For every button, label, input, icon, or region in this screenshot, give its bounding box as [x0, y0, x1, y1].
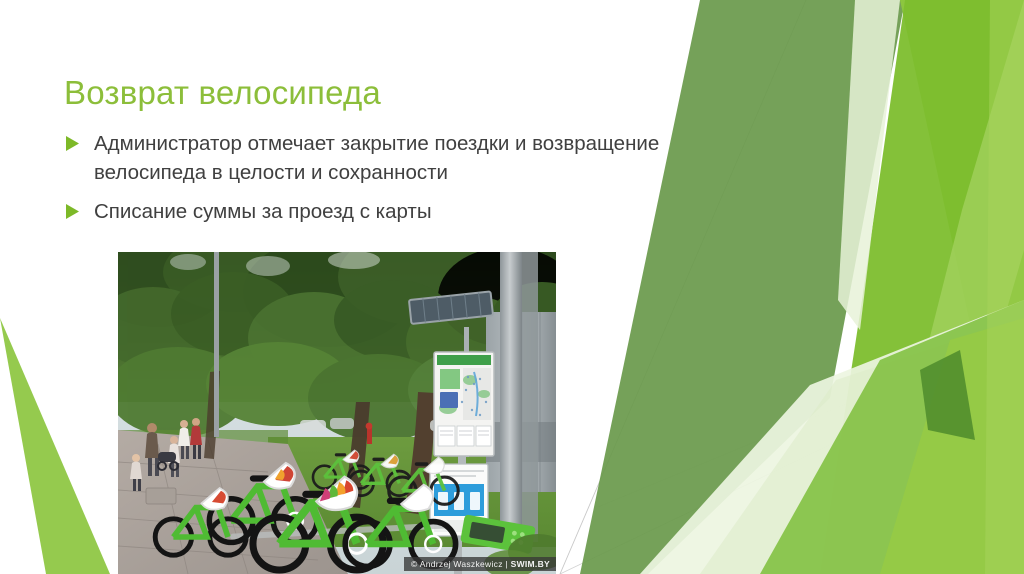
photo-illustration	[118, 252, 556, 574]
photo-credit-brand: SWIM.BY	[511, 559, 550, 569]
decor-polygon-lightgreen-top	[870, 0, 1024, 574]
list-item: Администратор отмечает закрытие поездки …	[66, 129, 676, 187]
decor-polygon-lime-mid	[820, 0, 1024, 574]
decor-wedge-bottom-left	[0, 318, 110, 574]
decor-polygon-mint-lower-2	[700, 318, 1024, 574]
bullet-text: Списание суммы за проезд с карты	[94, 197, 676, 226]
decor-polygon-pale-top	[838, 0, 900, 330]
decor-hairline-3	[598, 330, 1024, 507]
decor-polygon-green-sheet-2	[880, 318, 1024, 574]
photo-credit: © Andrzej Waszkewicz | SWIM.BY	[404, 557, 556, 571]
decor-polygon-green-sheet	[760, 300, 1024, 574]
bullet-text: Администратор отмечает закрытие поездки …	[94, 129, 676, 187]
slide-body-bullet-list: Администратор отмечает закрытие поездки …	[66, 129, 676, 236]
slide-title: Возврат велосипеда	[64, 74, 624, 113]
photo-credit-author: © Andrzej Waszkewicz |	[411, 559, 511, 569]
decor-polygon-dark-sliver	[920, 350, 975, 440]
presentation-slide: Возврат велосипеда Администратор отмечае…	[0, 0, 1024, 574]
decor-polygon-mint-lower	[640, 300, 1024, 574]
triangle-right-bullet-icon	[66, 204, 79, 219]
list-item: Списание суммы за проезд с карты	[66, 197, 676, 226]
decor-polygon-lime-right	[900, 0, 1024, 574]
decor-polygon-right-wash	[985, 0, 1024, 574]
triangle-right-bullet-icon	[66, 136, 79, 151]
decor-hairline-2	[560, 352, 1024, 574]
decor-polygon-dark-green	[580, 0, 905, 574]
bike-share-station-photo: © Andrzej Waszkewicz | SWIM.BY	[118, 252, 556, 574]
